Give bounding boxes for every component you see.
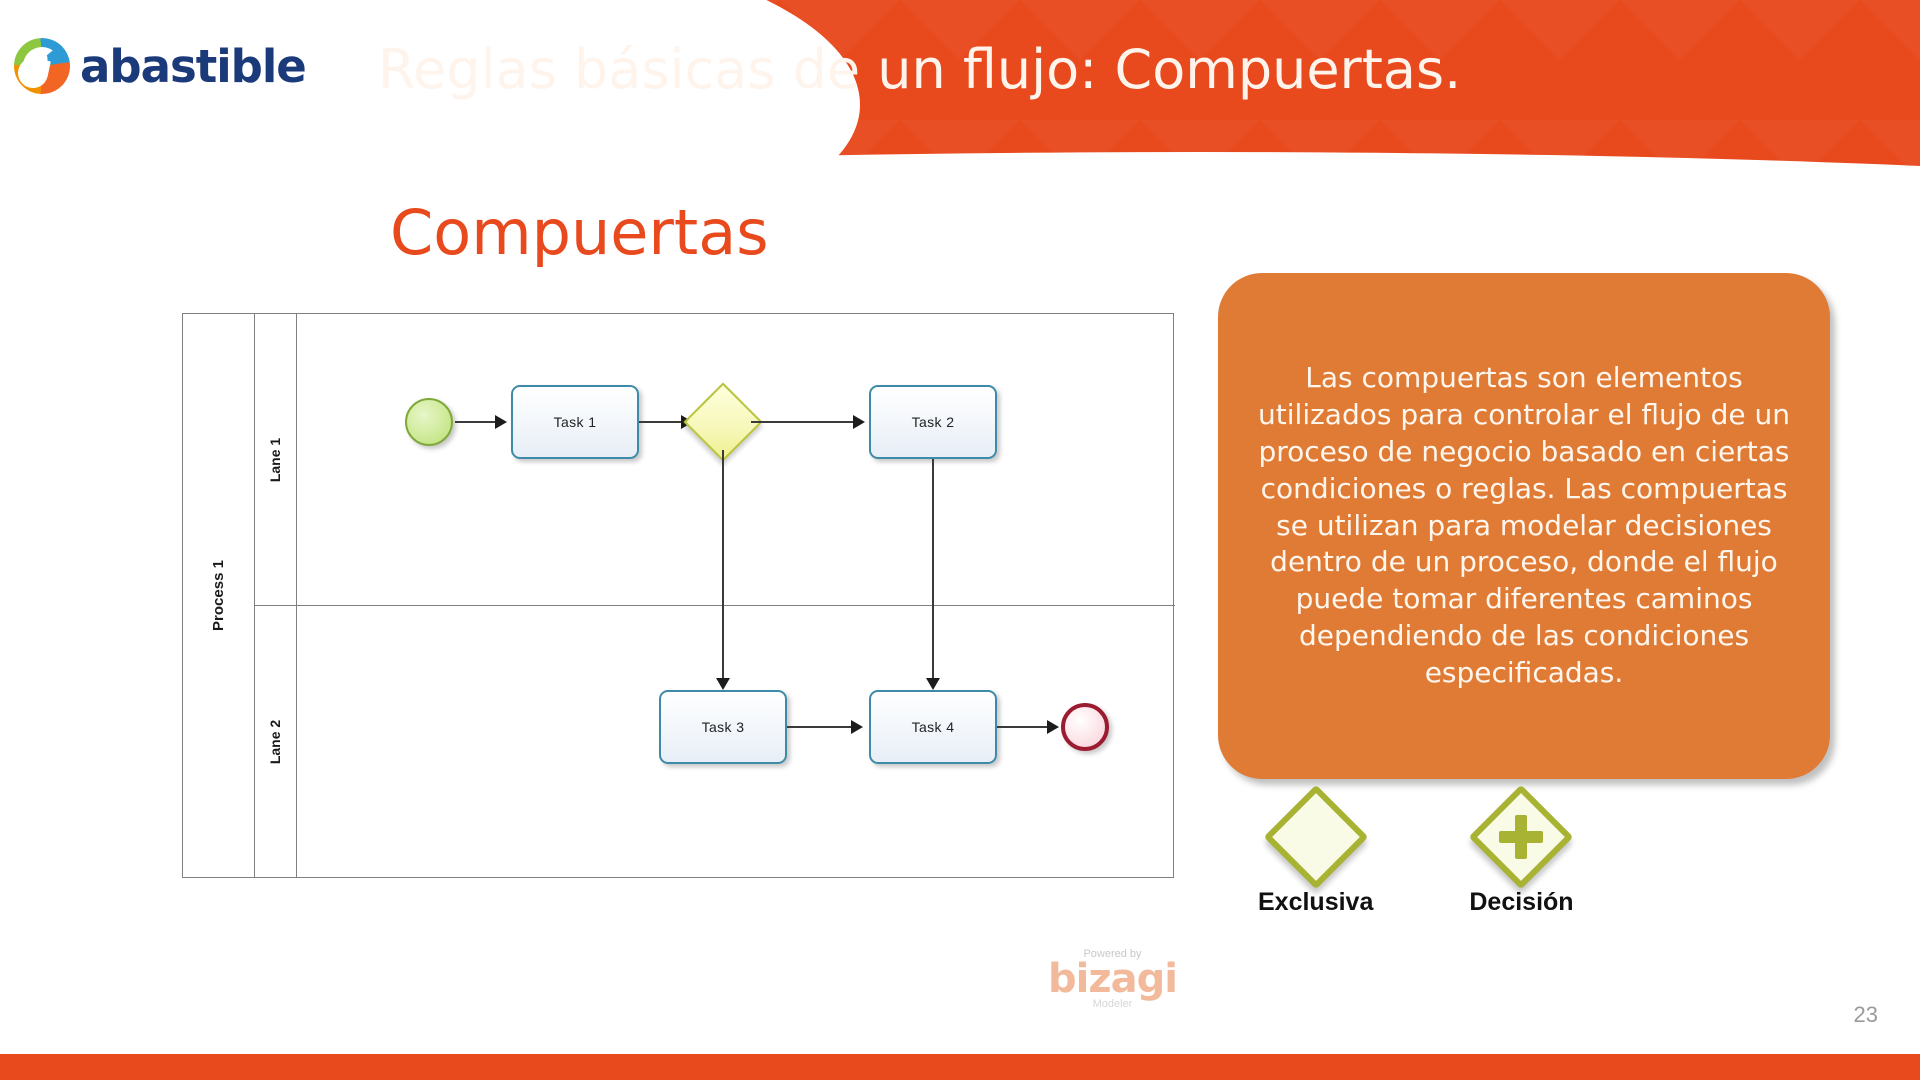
lane-1-header: Lane 1 bbox=[255, 314, 297, 605]
lane-1-body: Task 1 Task 2 bbox=[297, 314, 1175, 605]
lane-2-label: Lane 2 bbox=[268, 720, 284, 764]
diamond-plain-icon bbox=[1263, 785, 1368, 890]
flow-task4-end bbox=[997, 726, 1049, 728]
arrow-task3-task4-icon bbox=[851, 720, 863, 734]
legend-label-decision: Decisión bbox=[1469, 888, 1573, 917]
arrow-task2-task4-icon bbox=[926, 678, 940, 690]
bpmn-pool: Process 1 Lane 1 Task 1 Task 2 bbox=[182, 313, 1174, 878]
page-title: Reglas básicas de un flujo: Compuertas. bbox=[378, 38, 1461, 101]
brand-name: abastible bbox=[80, 40, 306, 93]
page-number: 23 bbox=[1854, 1002, 1878, 1028]
bizagi-product: bizagi bbox=[1048, 960, 1177, 998]
slide: abastible Reglas básicas de un flujo: Co… bbox=[0, 0, 1920, 1080]
flow-task2-task4-upper bbox=[932, 459, 934, 606]
task-node-task4[interactable]: Task 4 bbox=[869, 690, 997, 764]
arrow-start-task1-icon bbox=[495, 415, 507, 429]
arrow-gateway-task2-icon bbox=[853, 415, 865, 429]
flow-gateway-task2 bbox=[751, 421, 855, 423]
section-heading: Compuertas bbox=[390, 196, 769, 269]
arrow-task4-end-icon bbox=[1047, 720, 1059, 734]
task-node-task3[interactable]: Task 3 bbox=[659, 690, 787, 764]
diamond-x-icon bbox=[1469, 785, 1574, 890]
lane-1-label: Lane 1 bbox=[268, 437, 284, 481]
lane-2-body: Task 3 Task 4 bbox=[297, 606, 1175, 878]
bpmn-lane-1: Lane 1 Task 1 Task 2 bbox=[255, 314, 1175, 606]
legend-label-exclusiva: Exclusiva bbox=[1258, 888, 1373, 917]
end-event[interactable] bbox=[1061, 703, 1109, 751]
task-node-task2[interactable]: Task 2 bbox=[869, 385, 997, 459]
pool-header: Process 1 bbox=[183, 314, 255, 877]
flow-gateway-task3-upper bbox=[722, 450, 724, 606]
info-callout: Las compuertas son elementos utilizados … bbox=[1218, 273, 1830, 779]
flow-task2-task4-lower bbox=[932, 606, 934, 682]
callout-text: Las compuertas son elementos utilizados … bbox=[1252, 360, 1796, 693]
flow-gateway-task3-lower bbox=[722, 606, 724, 682]
gateway-legend: Exclusiva Decisión bbox=[1258, 800, 1574, 917]
flow-start-task1 bbox=[455, 421, 497, 423]
lane-2-header: Lane 2 bbox=[255, 606, 297, 878]
task-node-task1[interactable]: Task 1 bbox=[511, 385, 639, 459]
bizagi-watermark: Powered by bizagi Modeler bbox=[1048, 948, 1177, 1010]
pool-label: Process 1 bbox=[210, 560, 227, 631]
flow-task1-gateway bbox=[639, 421, 683, 423]
abastible-mark-icon bbox=[14, 38, 70, 94]
bpmn-lane-2: Lane 2 Task 3 Task 4 bbox=[255, 606, 1175, 878]
start-event[interactable] bbox=[405, 398, 453, 446]
flow-task3-task4 bbox=[787, 726, 853, 728]
arrow-gateway-task3-icon bbox=[716, 678, 730, 690]
abastible-logo: abastible bbox=[14, 38, 306, 94]
footer-bar bbox=[0, 1054, 1920, 1080]
legend-item-decision: Decisión bbox=[1469, 800, 1573, 917]
legend-item-exclusiva: Exclusiva bbox=[1258, 800, 1373, 917]
